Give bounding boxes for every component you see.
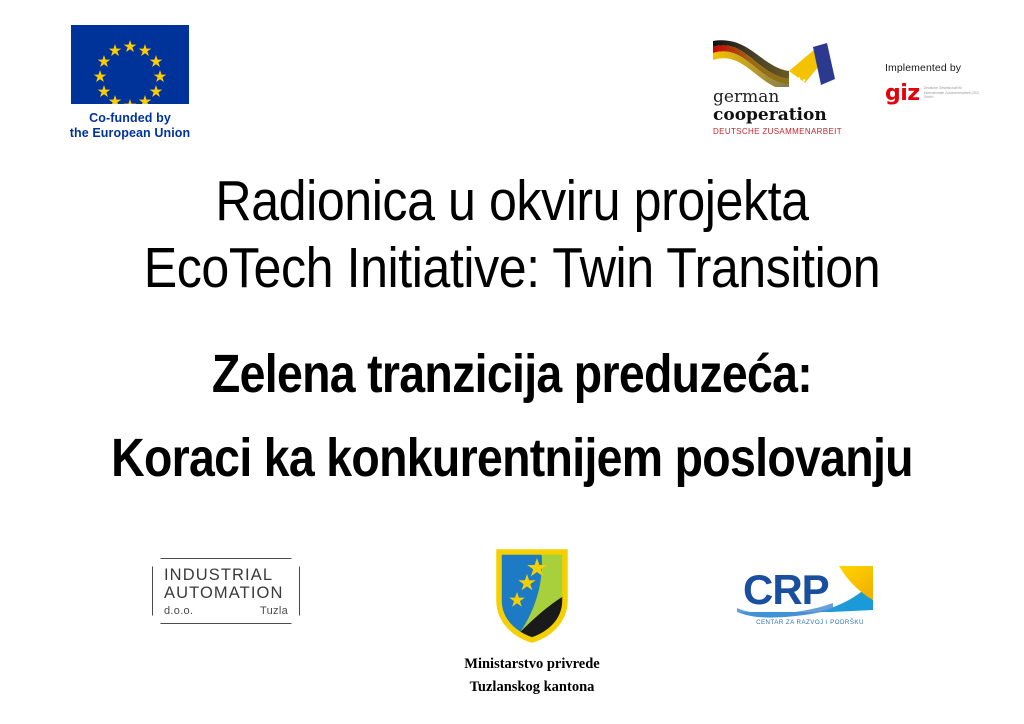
svg-text:CRP: CRP — [743, 566, 829, 613]
page-title-line1: Radionica u okviru projekta — [61, 168, 962, 235]
giz-logo-block: Implemented by giz Deutsche Gesellschaft… — [885, 62, 1005, 103]
eu-funding-caption: Co-funded by the European Union — [40, 111, 220, 141]
ia-line-tuzla: Tuzla — [260, 605, 288, 617]
ministry-caption-line2: Tuzlanskog kantona — [432, 676, 632, 699]
crp-tagline: CENTAR ZA RAZVOJ I PODRŠKU — [735, 619, 885, 626]
german-cooperation-logo: german cooperation DEUTSCHE ZUSAMMENARBE… — [705, 35, 865, 136]
gc-line-cooperation: cooperation — [713, 106, 865, 124]
footer-logo-band: INDUSTRIAL AUTOMATION d.o.o. Tuzla — [0, 540, 1024, 724]
gc-line-german: german — [713, 88, 865, 106]
industrial-automation-logo-icon: INDUSTRIAL AUTOMATION d.o.o. Tuzla — [152, 558, 300, 624]
gc-line-deutsche-zusammenarbeit: DEUTSCHE ZUSAMMENARBEIT — [713, 127, 865, 136]
crp-logo-graphic: CRP — [735, 562, 885, 622]
eu-caption-line2: the European Union — [40, 126, 220, 141]
eu-stars-icon — [71, 25, 189, 104]
subtitle-block: Zelena tranzicija preduzeća: Koraci ka k… — [0, 332, 1024, 500]
title-block: Radionica u okviru projekta EcoTech Init… — [0, 168, 1024, 500]
ministry-caption-line1: Ministarstvo privrede — [432, 653, 632, 676]
eu-funding-logo: Co-funded by the European Union — [40, 25, 220, 141]
ministry-caption: Ministarstvo privrede Tuzlanskog kantona — [432, 653, 632, 699]
tuzla-canton-coat-of-arms-icon — [493, 548, 571, 644]
german-cooperation-wordmark: german cooperation DEUTSCHE ZUSAMMENARBE… — [705, 88, 865, 136]
ia-line-doo: d.o.o. — [164, 605, 193, 617]
crp-logo-icon: CRP CENTAR ZA RAZVOJ I PODRŠKU — [735, 562, 885, 634]
header-logo-band: Co-funded by the European Union — [0, 0, 1024, 150]
giz-legal-name: Deutsche Gesellschaft für Internationale… — [924, 86, 982, 100]
german-bosnian-flag-ribbon-icon — [705, 35, 865, 87]
implemented-by-label: Implemented by — [885, 62, 1005, 74]
giz-wordmark: giz — [885, 85, 920, 103]
ia-line-automation: AUTOMATION — [164, 584, 288, 602]
ministry-logo-block: Ministarstvo privrede Tuzlanskog kantona — [432, 548, 632, 699]
page-subtitle-line1: Zelena tranzicija preduzeća: — [72, 332, 953, 416]
eu-flag-icon — [71, 25, 189, 104]
ia-line-industrial: INDUSTRIAL — [164, 566, 288, 584]
eu-caption-line1: Co-funded by — [40, 111, 220, 126]
page-subtitle-line2: Koraci ka konkurentnijem poslovanju — [72, 416, 953, 500]
page-title-line2: EcoTech Initiative: Twin Transition — [61, 235, 962, 302]
